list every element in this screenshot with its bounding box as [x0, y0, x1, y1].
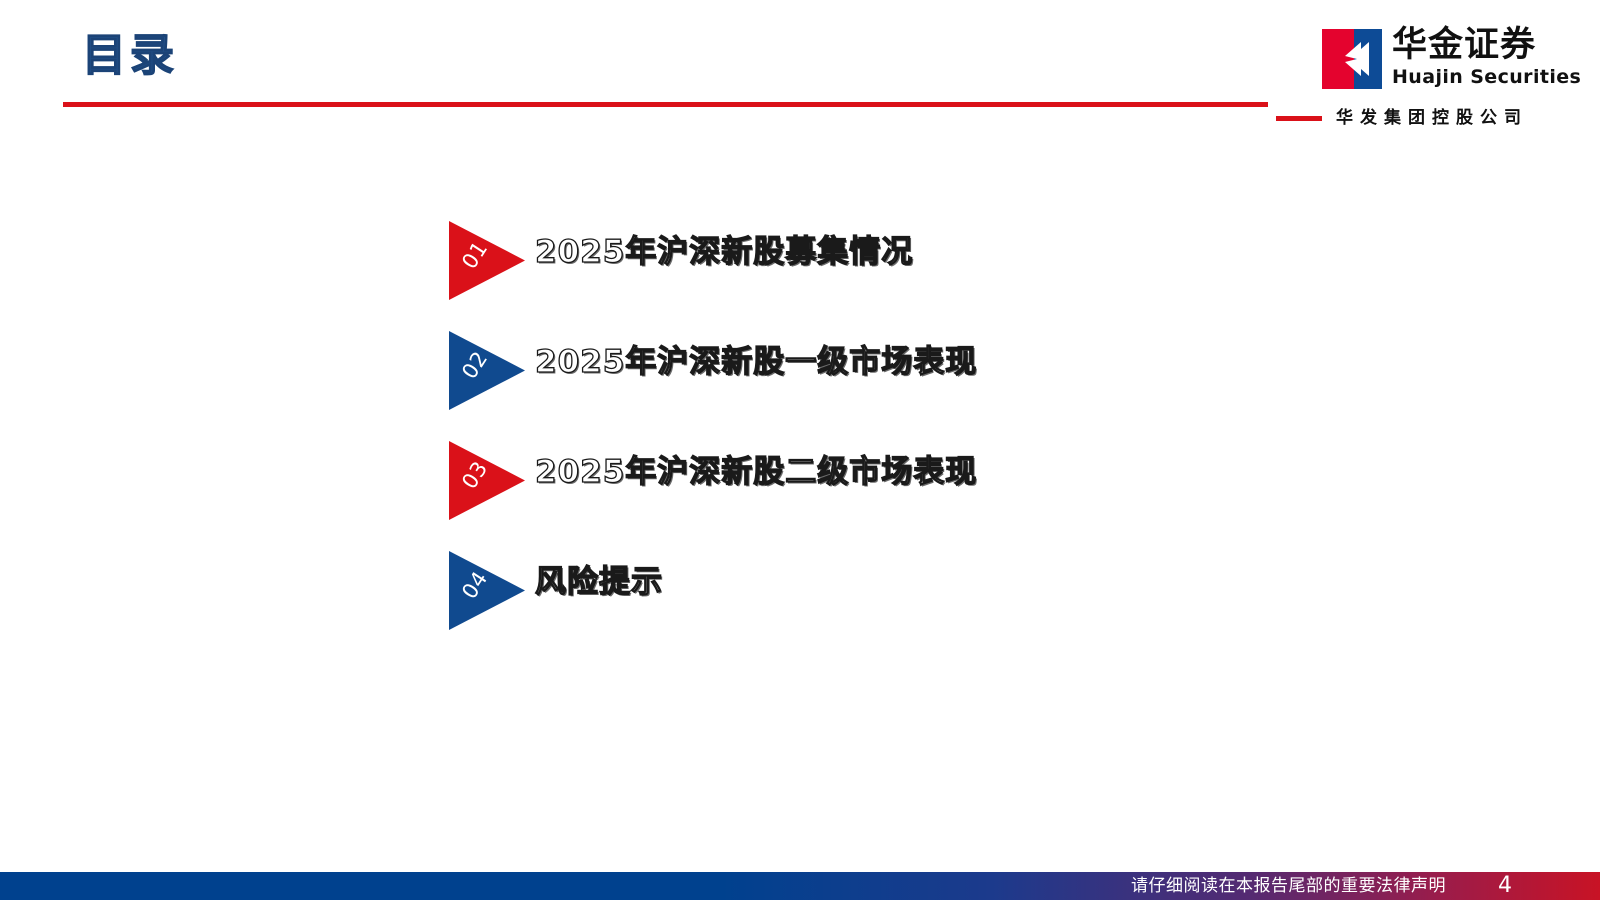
toc-label-03[interactable]: 2025年沪深新股二级市场表现: [535, 451, 977, 493]
table-of-contents: 01 2025年沪深新股募集情况 02 2025年沪深新股一级市场表现 03 2…: [449, 218, 1349, 658]
toc-label-02[interactable]: 2025年沪深新股一级市场表现: [535, 341, 977, 383]
logo-name-chinese: 华金证券: [1392, 26, 1581, 64]
title-divider-rule: [63, 102, 1268, 107]
logo-wordmark: 华金证券 Huajin Securities: [1392, 26, 1581, 88]
toc-marker-02: 02: [449, 331, 525, 410]
toc-marker-01: 01: [449, 221, 525, 300]
toc-item-04[interactable]: 04 风险提示: [449, 548, 1349, 658]
logo-name-english: Huajin Securities: [1392, 66, 1581, 88]
logo-parent-company: 华发集团控股公司: [1336, 108, 1528, 128]
toc-item-03[interactable]: 03 2025年沪深新股二级市场表现: [449, 438, 1349, 548]
toc-label-04[interactable]: 风险提示: [535, 561, 663, 603]
logo-secondary-row: 华发集团控股公司: [1276, 108, 1528, 128]
logo-mark-arrow-icon: [1339, 42, 1369, 76]
footer-legal-note: 请仔细阅读在本报告尾部的重要法律声明: [1131, 875, 1446, 897]
toc-marker-04: 04: [449, 551, 525, 630]
logo-primary-row: 华金证券 Huajin Securities: [1276, 14, 1581, 89]
logo-red-accent-rule: [1276, 116, 1322, 121]
toc-item-02[interactable]: 02 2025年沪深新股一级市场表现: [449, 328, 1349, 438]
huajin-logo-mark-icon: [1322, 29, 1382, 89]
page-title: 目录: [82, 30, 178, 82]
brand-logo: 华金证券 Huajin Securities 华发集团控股公司: [1276, 14, 1592, 130]
slide-root: 目录 华金证券 Huajin Securities 华发集团控股公司: [0, 0, 1600, 900]
footer-bar: 请仔细阅读在本报告尾部的重要法律声明 4: [0, 872, 1600, 900]
toc-item-01[interactable]: 01 2025年沪深新股募集情况: [449, 218, 1349, 328]
toc-marker-03: 03: [449, 441, 525, 520]
footer-page-number: 4: [1498, 872, 1512, 900]
toc-label-01[interactable]: 2025年沪深新股募集情况: [535, 231, 913, 273]
